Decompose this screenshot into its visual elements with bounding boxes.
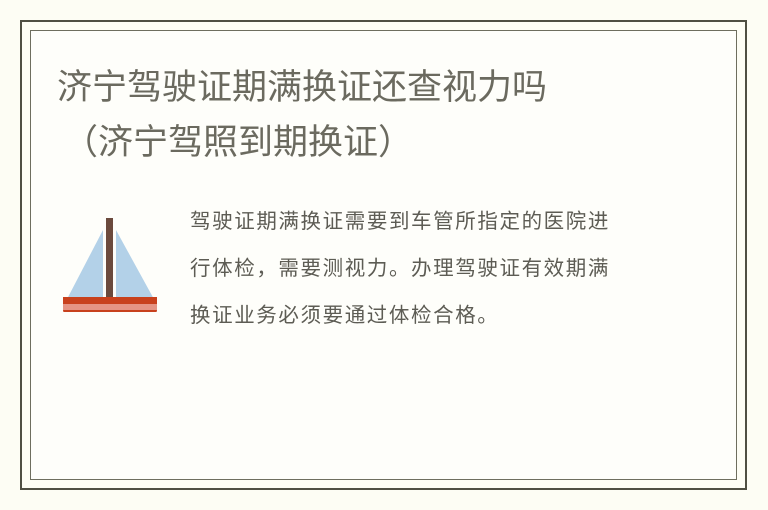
card-content: 济宁驾驶证期满换证还查视力吗 （济宁驾照到期换证） — [30, 30, 737, 480]
page-root: 济宁驾驶证期满换证还查视力吗 （济宁驾照到期换证） — [0, 0, 768, 510]
page-title: 济宁驾驶证期满换证还查视力吗 （济宁驾照到期换证） — [57, 60, 717, 170]
article-body-text: 驾驶证期满换证需要到车管所指定的医院进行体检，需要测视力。办理驾驶证有效期满换证… — [190, 198, 646, 339]
article-paragraph: 驾驶证期满换证需要到车管所指定的医院进行体检，需要测视力。办理驾驶证有效期满换证… — [190, 198, 610, 339]
sailboat-icon — [58, 210, 162, 312]
page-title-line-1: 济宁驾驶证期满换证还查视力吗 — [57, 60, 717, 115]
page-title-line-2: （济宁驾照到期换证） — [57, 115, 717, 170]
illustration-container — [30, 198, 190, 312]
article-body-row: 驾驶证期满换证需要到车管所指定的医院进行体检，需要测视力。办理驾驶证有效期满换证… — [30, 198, 737, 339]
